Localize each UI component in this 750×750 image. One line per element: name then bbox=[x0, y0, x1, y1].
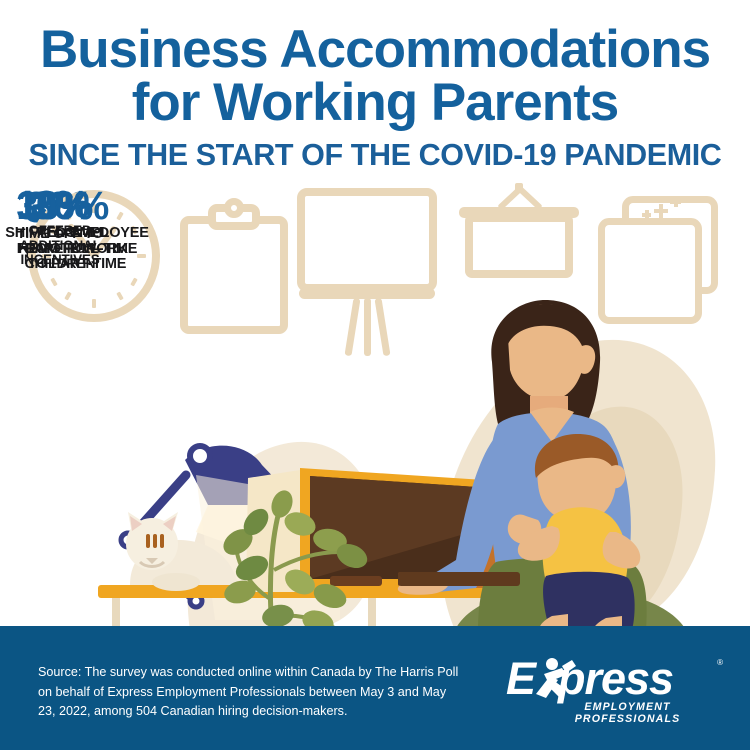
footer-bar: Source: The survey was conducted online … bbox=[0, 626, 750, 750]
registered-trademark-symbol: ® bbox=[717, 658, 723, 667]
express-logo-wordmark: E press ® bbox=[506, 654, 721, 702]
stat-percent: 10% bbox=[0, 186, 104, 224]
stats-row: 39% ADJUSTEDWORK HOURS 36% TIME OFF TOCA… bbox=[0, 186, 750, 346]
cat-stripe-1 bbox=[146, 534, 150, 548]
stat-offered-additional-incentives: 10% OFFEREDADDITIONALINCENTIVES bbox=[0, 186, 120, 268]
board-leg-right bbox=[375, 298, 391, 356]
cat-stripe-3 bbox=[160, 534, 164, 548]
hanging-sign-icon bbox=[455, 183, 583, 333]
plus-icon-small-1 bbox=[654, 204, 668, 218]
clipboard-icon bbox=[180, 204, 290, 336]
card-front bbox=[598, 218, 702, 324]
express-logo: E press ® EMPLOYMENT PROFESSIONALS bbox=[506, 654, 721, 724]
clipboard-body bbox=[180, 216, 288, 334]
cat-stripe-2 bbox=[153, 534, 157, 548]
infographic-root: Business Accommodations for Working Pare… bbox=[0, 0, 750, 750]
page-title-line-1: Business Accommodations bbox=[0, 24, 750, 76]
express-logo-tagline: EMPLOYMENT PROFESSIONALS bbox=[530, 701, 725, 725]
header: Business Accommodations for Working Pare… bbox=[0, 0, 750, 173]
svg-text:E: E bbox=[506, 654, 538, 704]
lamp-joint-top bbox=[190, 446, 210, 466]
page-title-line-2: for Working Parents bbox=[0, 77, 750, 129]
board-leg-center bbox=[364, 298, 371, 356]
svg-text:press: press bbox=[557, 654, 673, 704]
keyboard bbox=[398, 572, 520, 586]
board-frame bbox=[297, 188, 437, 292]
board-leg-left bbox=[345, 298, 361, 356]
clipboard-knob bbox=[224, 198, 244, 218]
presentation-board-icon bbox=[297, 180, 437, 355]
clock-tick-6 bbox=[92, 299, 96, 308]
plus-icon-small-2 bbox=[670, 196, 681, 207]
stacked-cards-plus-icon bbox=[598, 196, 726, 334]
sign-frame bbox=[465, 214, 573, 278]
cat-paws bbox=[152, 573, 200, 591]
source-text: Source: The survey was conducted online … bbox=[38, 663, 463, 722]
stat-label: OFFEREDADDITIONALINCENTIVES bbox=[0, 224, 120, 268]
page-subtitle: SINCE THE START OF THE COVID-19 PANDEMIC bbox=[0, 138, 750, 173]
desk-item-block bbox=[330, 576, 382, 586]
